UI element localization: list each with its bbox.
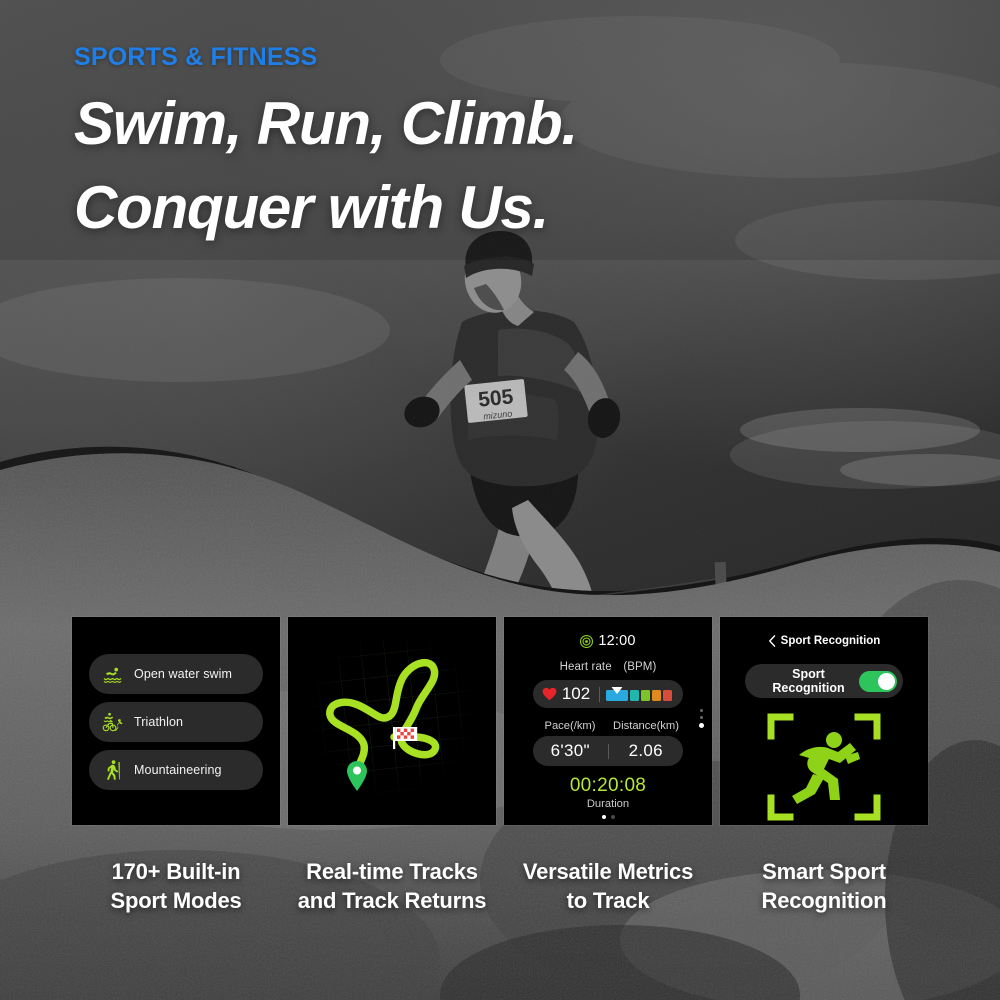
card-versatile-metrics: 12:00 Heart rate (BPM) 102 (504, 617, 712, 825)
scroll-dot (700, 716, 703, 719)
screen-header: Sport Recognition (720, 635, 928, 647)
page-indicator (504, 815, 712, 819)
sport-recognition-toggle-row[interactable]: Sport Recognition (745, 664, 903, 698)
heart-rate-row[interactable]: 102 (533, 680, 683, 708)
pace-distance-row[interactable]: 6'30" 2.06 (533, 736, 683, 766)
heart-rate-value: 102 (562, 684, 590, 704)
caption-line-2: Recognition (720, 886, 928, 915)
caption-line-2: Sport Modes (72, 886, 280, 915)
caption-real-time-track: Real-time Tracks and Track Returns (288, 857, 496, 915)
scroll-indicator[interactable] (699, 709, 704, 728)
duration-label: Duration (504, 798, 712, 810)
metric-labels-row: Pace(/km) Distance(km) (504, 720, 712, 732)
caption-line-1: Versatile Metrics (504, 857, 712, 886)
header-block: SPORTS & FITNESS Swim, Run, Climb. Conqu… (74, 44, 577, 241)
heart-icon (542, 687, 557, 701)
caption-row: 170+ Built-in Sport Modes Real-time Trac… (72, 857, 928, 915)
triathlon-icon (102, 711, 124, 733)
feature-card-strip: Open water swim (72, 617, 928, 825)
duration-value: 00:20:08 (504, 775, 712, 797)
pace-value: 6'30" (533, 741, 608, 761)
headline-line-1: Swim, Run, Climb. (74, 92, 577, 157)
caption-line-2: to Track (504, 886, 712, 915)
recognition-preview (720, 712, 928, 822)
toggle-label: Sport Recognition (758, 667, 859, 695)
open-water-swim-icon (102, 663, 124, 685)
distance-label: Distance(km) (613, 720, 679, 732)
caption-line-1: Smart Sport (720, 857, 928, 886)
sport-mode-item-open-water-swim[interactable]: Open water swim (89, 654, 263, 694)
card-sport-modes: Open water swim (72, 617, 280, 825)
caption-line-1: 170+ Built-in (72, 857, 280, 886)
sport-recognition-switch[interactable] (859, 671, 897, 692)
status-row: 12:00 (504, 633, 712, 649)
switch-knob (878, 673, 895, 690)
pace-label: Pace(/km) (537, 720, 603, 732)
caption-line-1: Real-time Tracks (288, 857, 496, 886)
eyebrow-label: SPORTS & FITNESS (74, 44, 577, 72)
scroll-dot-active (699, 723, 704, 728)
watch-metrics-screen: 12:00 Heart rate (BPM) 102 (504, 617, 712, 825)
heart-rate-label: Heart rate (BPM) (504, 658, 712, 674)
screen-title: Sport Recognition (781, 635, 881, 647)
running-person-icon (792, 732, 860, 804)
sport-mode-label: Mountaineering (134, 763, 222, 777)
mountaineering-icon (102, 759, 124, 781)
heart-rate-zone-bar (600, 685, 683, 703)
sport-mode-item-mountaineering[interactable]: Mountaineering (89, 750, 263, 790)
card-real-time-track (288, 617, 496, 825)
caption-versatile-metrics: Versatile Metrics to Track (504, 857, 712, 915)
chevron-left-icon[interactable] (768, 635, 776, 647)
scroll-dot (700, 709, 703, 712)
headline-line-2: Conquer with Us. (74, 176, 577, 241)
route-map[interactable] (288, 617, 496, 825)
sport-mode-label: Triathlon (134, 715, 183, 729)
page-dot (611, 815, 615, 819)
sport-mode-label: Open water swim (134, 667, 232, 681)
caption-line-2: and Track Returns (288, 886, 496, 915)
distance-value: 2.06 (609, 741, 684, 761)
sport-recognition-screen: Sport Recognition Sport Recognition (720, 617, 928, 825)
caption-sport-recognition: Smart Sport Recognition (720, 857, 928, 915)
sport-mode-item-triathlon[interactable]: Triathlon (89, 702, 263, 742)
sport-mode-list: Open water swim (89, 654, 263, 790)
watch-time: 12:00 (598, 633, 635, 649)
caption-sport-modes: 170+ Built-in Sport Modes (72, 857, 280, 915)
card-sport-recognition: Sport Recognition Sport Recognition (720, 617, 928, 825)
page-dot-active (602, 815, 606, 819)
gps-signal-icon (580, 635, 593, 648)
